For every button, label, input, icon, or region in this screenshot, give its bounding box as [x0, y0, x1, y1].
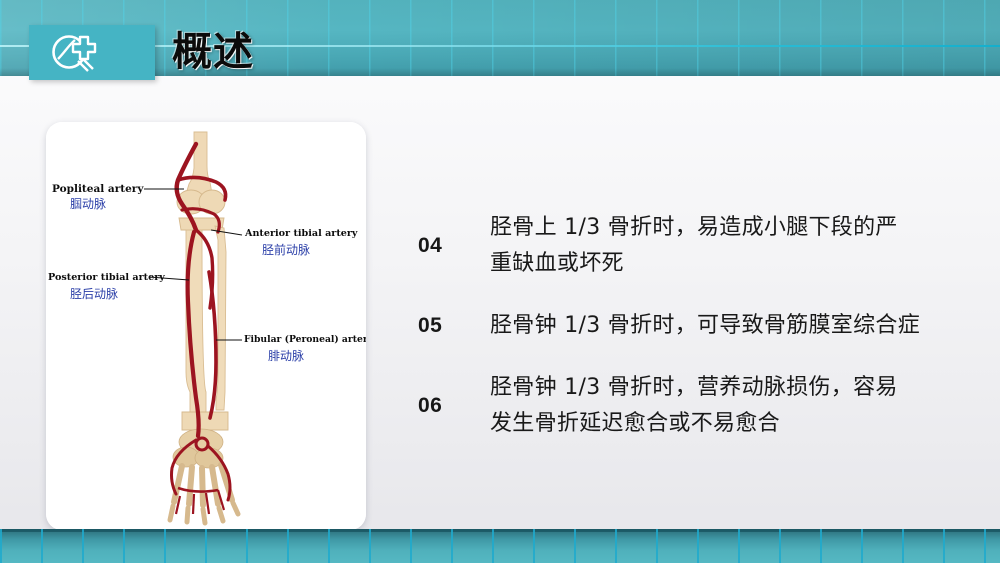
list-item-text: 胫骨钟 1/3 骨折时，营养动脉损伤，容易 发生骨折延迟愈合或不易愈合	[490, 370, 978, 442]
list-item: 05 胫骨钟 1/3 骨折时，可导致骨筋膜室综合症	[418, 308, 978, 344]
list-item-number: 04	[418, 234, 490, 258]
svg-text:Fibular (Peroneal) artery: Fibular (Peroneal) artery	[244, 334, 366, 345]
leg-artery-diagram: Popliteal artery 腘动脉 Anterior tibial art…	[46, 122, 366, 530]
anatomy-image-card: Popliteal artery 腘动脉 Anterior tibial art…	[46, 122, 366, 530]
svg-text:腓动脉: 腓动脉	[268, 348, 304, 363]
medical-cross-circle-icon	[47, 31, 101, 75]
page-title: 概述	[172, 26, 254, 78]
svg-text:Anterior tibial artery: Anterior tibial artery	[244, 228, 358, 239]
list-item-number: 06	[418, 394, 490, 418]
footer-grid-lines	[0, 529, 1000, 563]
svg-text:Posterior tibial artery: Posterior tibial artery	[48, 272, 165, 283]
list-item-text: 胫骨上 1/3 骨折时，易造成小腿下段的严 重缺血或坏死	[490, 210, 978, 282]
list-item-number: 05	[418, 314, 490, 338]
footer-banner	[0, 529, 1000, 563]
svg-text:胫前动脉: 胫前动脉	[262, 242, 310, 257]
content-list: 04 胫骨上 1/3 骨折时，易造成小腿下段的严 重缺血或坏死 05 胫骨钟 1…	[418, 210, 978, 468]
svg-text:腘动脉: 腘动脉	[70, 196, 106, 211]
list-item: 06 胫骨钟 1/3 骨折时，营养动脉损伤，容易 发生骨折延迟愈合或不易愈合	[418, 370, 978, 442]
svg-text:Popliteal artery: Popliteal artery	[52, 183, 144, 195]
header-badge	[29, 25, 155, 80]
slide-root: 概述	[0, 0, 1000, 563]
svg-text:胫后动脉: 胫后动脉	[70, 286, 118, 301]
list-item: 04 胫骨上 1/3 骨折时，易造成小腿下段的严 重缺血或坏死	[418, 210, 978, 282]
list-item-text: 胫骨钟 1/3 骨折时，可导致骨筋膜室综合症	[490, 308, 978, 344]
